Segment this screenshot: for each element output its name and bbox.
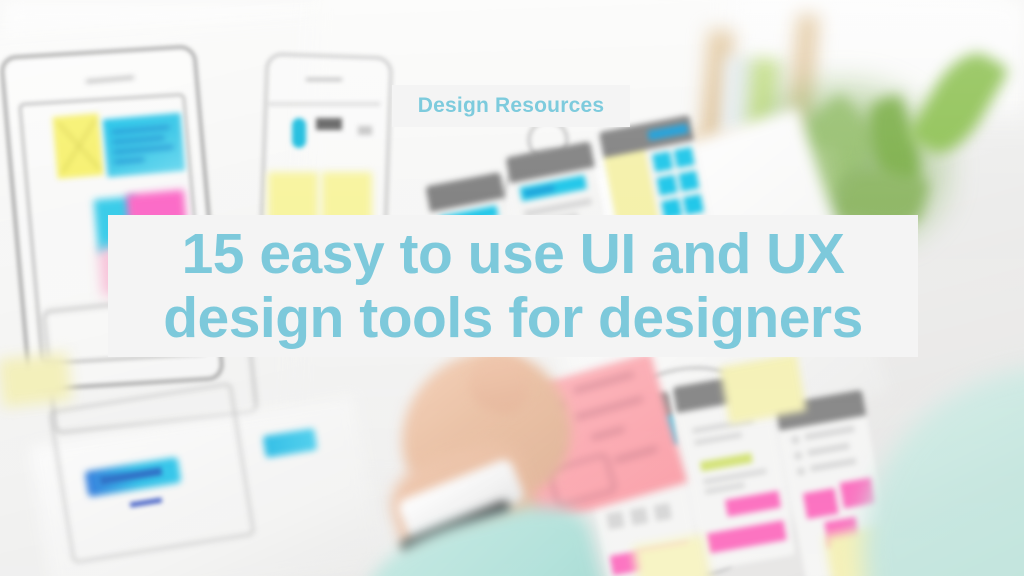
page-title-line-2: design tools for designers xyxy=(163,286,863,350)
sketch-phone-text-block xyxy=(316,118,342,130)
category-label: Design Resources xyxy=(418,94,604,118)
sketch-phone-gray-element xyxy=(358,126,372,135)
featured-image-canvas: Design Resources 15 easy to use UI and U… xyxy=(0,0,1024,576)
sketch-phone-divider xyxy=(268,103,380,105)
title-banner: 15 easy to use UI and UX design tools fo… xyxy=(108,215,918,357)
sticky-note-cyan-content-block xyxy=(103,113,186,178)
sticky-note-yellow xyxy=(0,352,72,407)
sticky-note-yellow-placeholder xyxy=(52,113,103,179)
page-title-line-1: 15 easy to use UI and UX xyxy=(182,222,845,286)
sketch-phone-teal-element xyxy=(292,118,306,148)
category-banner: Design Resources xyxy=(392,85,630,127)
sketch-phone-speaker xyxy=(306,78,342,81)
